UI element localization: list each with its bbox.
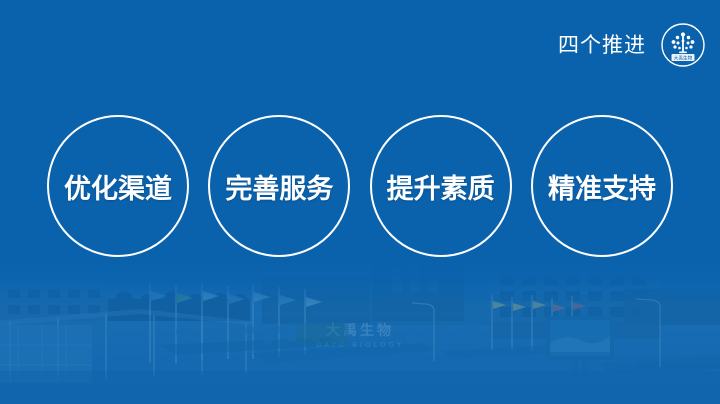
circle-item-1[interactable]: 优化渠道: [47, 115, 189, 257]
logo-caption: 大禹生物: [674, 55, 693, 62]
circle-item-2[interactable]: 完善服务: [208, 115, 350, 257]
four-initiatives-row: 优化渠道 完善服务 提升素质 精准支持: [47, 115, 673, 257]
circle-label-2: 完善服务: [225, 167, 333, 206]
dayu-biology-logo-icon: 大禹生物: [660, 22, 706, 68]
circle-item-3[interactable]: 提升素质: [370, 115, 512, 257]
circle-label-1: 优化渠道: [64, 167, 172, 206]
circle-label-4: 精准支持: [548, 167, 656, 206]
campus-photo-illustration: 大禹生物 DAYU BIOLOGY: [0, 259, 720, 404]
circle-label-3: 提升素质: [387, 167, 495, 206]
page-title: 四个推进: [558, 31, 646, 59]
slide-header: 四个推进 大禹生物: [558, 22, 706, 68]
background-photo: 大禹生物 DAYU BIOLOGY: [0, 259, 720, 404]
slide-canvas: 大禹生物 DAYU BIOLOGY 四个推进: [0, 0, 720, 404]
green-hedge-panel: [296, 323, 348, 345]
circle-item-4[interactable]: 精准支持: [531, 115, 673, 257]
